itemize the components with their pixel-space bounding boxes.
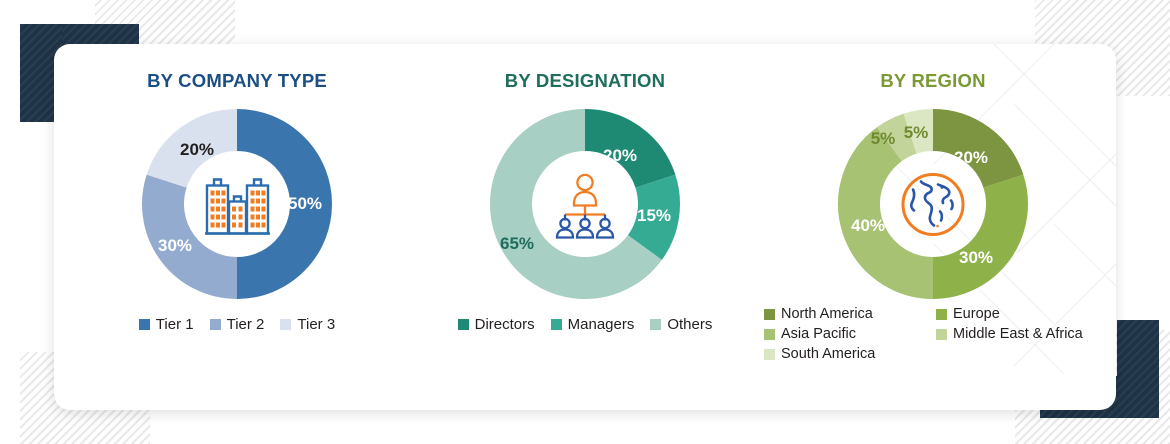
chart-panel-designation: BY DESIGNATION 20% 15% — [420, 44, 750, 410]
slice-south-america — [910, 130, 933, 134]
legend-item-tier-3[interactable]: Tier 3 — [280, 316, 335, 333]
legend-item-tier-2[interactable]: Tier 2 — [210, 316, 265, 333]
legend-region: North America Europe Asia Pacific Middle… — [764, 306, 1083, 362]
legend-label-others: Others — [667, 316, 712, 333]
slice-middle-east-africa — [890, 134, 911, 145]
legend-label-north-america: North America — [781, 306, 873, 322]
legend-item-europe[interactable]: Europe — [936, 306, 1083, 322]
legend-swatch-asia-pacific — [764, 329, 775, 340]
content-card: BY COMPANY TYPE 50% — [54, 44, 1116, 410]
legend-label-tier-2: Tier 2 — [227, 316, 265, 333]
org-chart-people-icon — [548, 169, 622, 244]
chart-title-region: BY REGION — [880, 70, 985, 92]
legend-item-managers[interactable]: Managers — [551, 316, 635, 333]
chart-panel-region: BY REGION — [750, 44, 1116, 410]
chart-title-company-type: BY COMPANY TYPE — [147, 70, 327, 92]
legend-label-middle-east-africa: Middle East & Africa — [953, 326, 1083, 342]
legend-swatch-south-america — [764, 349, 775, 360]
legend-swatch-tier-1 — [139, 319, 150, 330]
legend-label-directors: Directors — [475, 316, 535, 333]
legend-swatch-others — [650, 319, 661, 330]
legend-item-asia-pacific[interactable]: Asia Pacific — [764, 326, 932, 342]
slide-canvas: BY COMPANY TYPE 50% — [0, 0, 1170, 444]
legend-label-tier-1: Tier 1 — [156, 316, 194, 333]
legend-company-type: Tier 1 Tier 2 Tier 3 — [54, 316, 420, 333]
legend-swatch-managers — [551, 319, 562, 330]
legend-item-others[interactable]: Others — [650, 316, 712, 333]
donut-chart-designation: 20% 15% 65% — [487, 106, 683, 307]
legend-swatch-tier-2 — [210, 319, 221, 330]
legend-swatch-europe — [936, 309, 947, 320]
donut-chart-company-type: 50% 30% 20% — [139, 106, 335, 307]
legend-item-north-america[interactable]: North America — [764, 306, 932, 322]
legend-label-asia-pacific: Asia Pacific — [781, 326, 856, 342]
legend-swatch-north-america — [764, 309, 775, 320]
legend-designation: Directors Managers Others — [420, 316, 750, 333]
legend-item-middle-east-africa[interactable]: Middle East & Africa — [936, 326, 1083, 342]
legend-swatch-middle-east-africa — [936, 329, 947, 340]
legend-swatch-directors — [458, 319, 469, 330]
legend-label-tier-3: Tier 3 — [297, 316, 335, 333]
legend-label-managers: Managers — [568, 316, 635, 333]
chart-panel-company-type: BY COMPANY TYPE 50% — [54, 44, 420, 410]
buildings-icon — [200, 169, 274, 244]
legend-label-south-america: South America — [781, 346, 875, 362]
legend-label-europe: Europe — [953, 306, 1000, 322]
donut-chart-region: 20% 30% 40% 5% 5% — [835, 106, 1031, 307]
legend-item-tier-1[interactable]: Tier 1 — [139, 316, 194, 333]
chart-title-designation: BY DESIGNATION — [505, 70, 665, 92]
legend-item-directors[interactable]: Directors — [458, 316, 535, 333]
legend-swatch-tier-3 — [280, 319, 291, 330]
globe-icon — [896, 167, 970, 246]
legend-item-south-america[interactable]: South America — [764, 346, 932, 362]
slice-managers — [645, 181, 659, 247]
